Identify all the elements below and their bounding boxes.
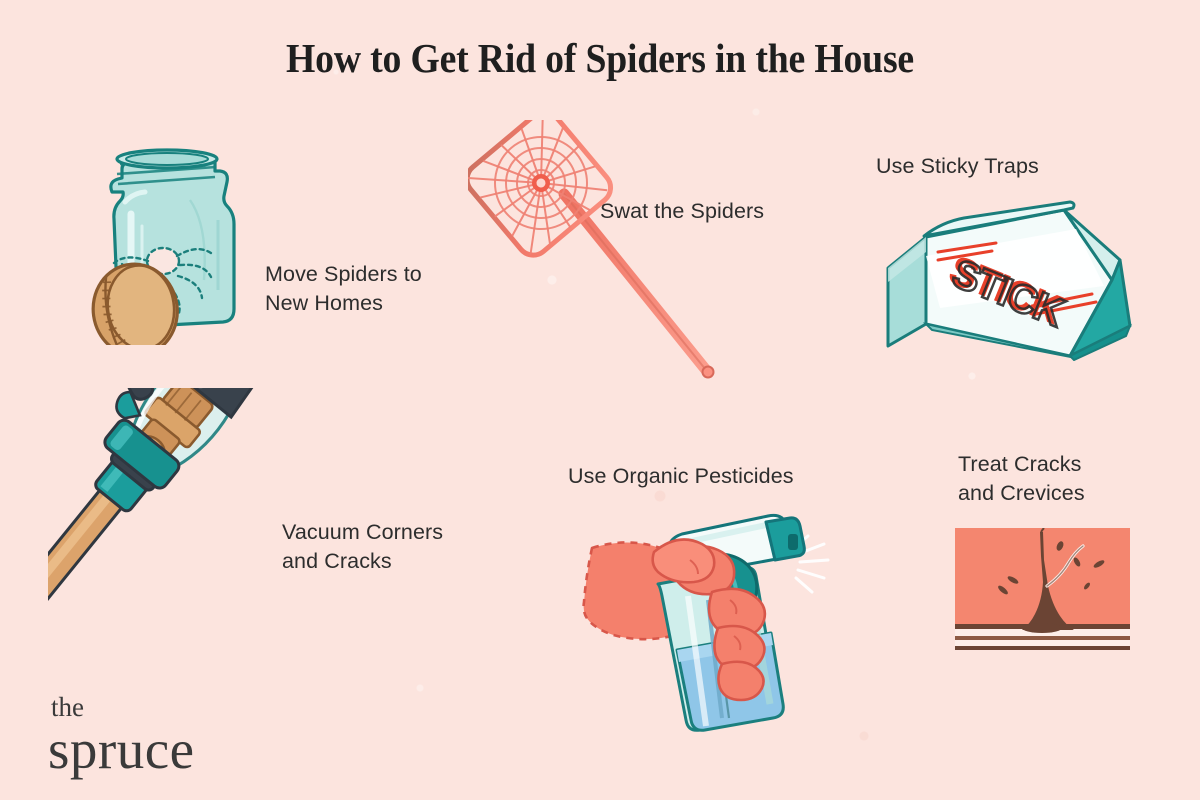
tip-label-swat-spiders: Swat the Spiders <box>600 197 764 226</box>
wall-crack-icon <box>955 528 1130 653</box>
mason-jar-icon <box>70 130 280 345</box>
tip-label-cracks-crevices: Treat Cracks and Crevices <box>958 450 1085 508</box>
tip-label-sticky-traps: Use Sticky Traps <box>876 152 1039 181</box>
fly-swatter-icon <box>468 120 718 380</box>
tip-label-move-spiders: Move Spiders to New Homes <box>265 260 422 318</box>
brand-logo-the: the <box>51 694 195 721</box>
sticky-trap-box-icon: STICK STICK <box>880 196 1140 361</box>
brand-logo-spruce: spruce <box>48 722 195 777</box>
page-title: How to Get Rid of Spiders in the House <box>48 34 1152 82</box>
tip-label-vacuum: Vacuum Corners and Cracks <box>282 518 443 576</box>
infographic-canvas: How to Get Rid of Spiders in the House <box>0 0 1200 800</box>
spray-bottle-hand-icon <box>562 500 852 755</box>
brand-logo: the spruce <box>48 694 195 777</box>
tip-label-organic-pesticides: Use Organic Pesticides <box>568 462 794 491</box>
